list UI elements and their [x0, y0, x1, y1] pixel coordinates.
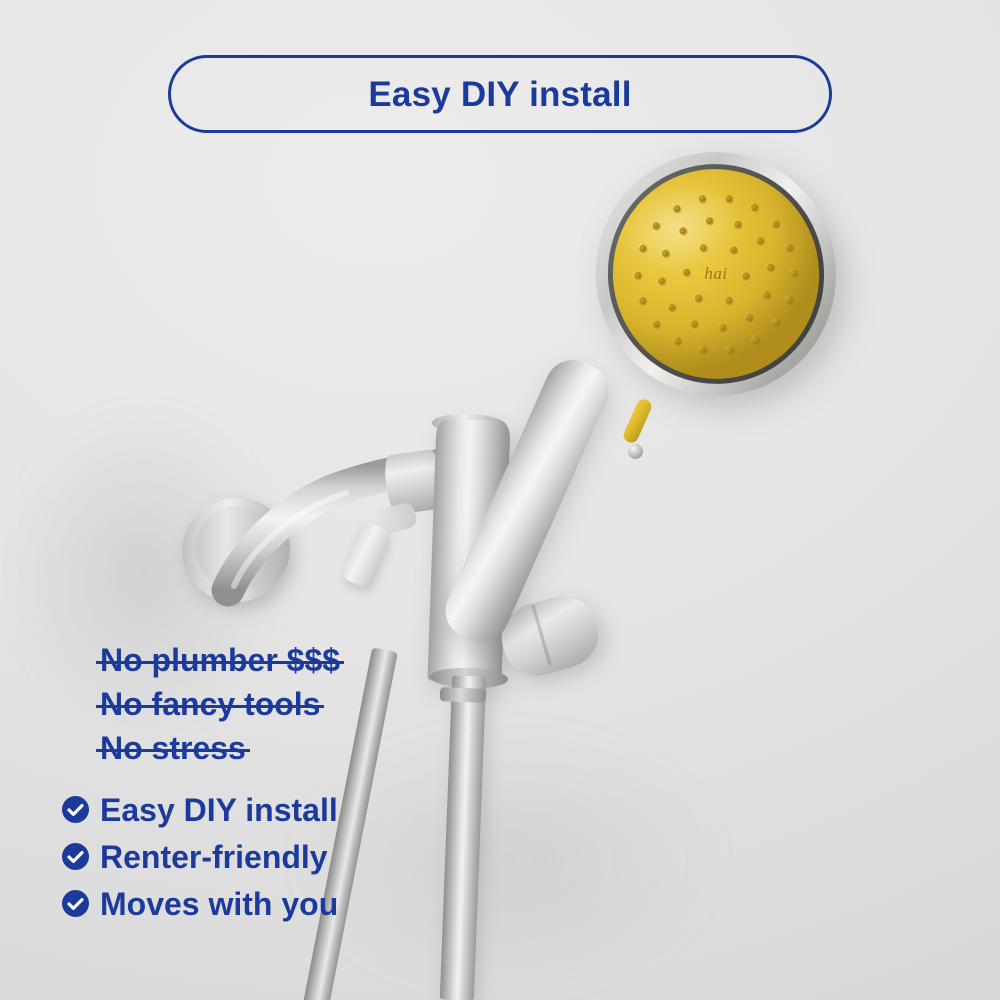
shower-nozzle	[762, 290, 770, 298]
benefit-label: Renter-friendly	[100, 841, 328, 873]
shower-nozzle	[785, 295, 793, 303]
shower-nozzle	[690, 320, 698, 328]
product-marketing-image: hai Easy DIY install No plumber $$$ No f…	[0, 0, 1000, 1000]
crossed-out-label: No stress	[100, 726, 246, 770]
list-item: No stress	[62, 726, 482, 770]
shower-nozzle	[698, 345, 706, 353]
shower-nozzle	[771, 220, 779, 228]
shower-head: hai	[572, 128, 861, 420]
shower-nozzle	[639, 297, 647, 305]
list-item: No fancy tools	[62, 682, 482, 726]
wand-slider-ball	[628, 444, 643, 459]
shower-nozzle	[668, 303, 676, 311]
shower-nozzle	[719, 323, 727, 331]
shower-head-gloss	[606, 172, 749, 283]
shower-nozzle	[652, 320, 660, 328]
shower-nozzle	[790, 269, 798, 277]
checked-benefits-list: Easy DIY install Renter-friendly Moves w…	[62, 786, 482, 927]
shower-nozzle	[766, 263, 774, 271]
shower-nozzle	[634, 271, 642, 279]
shower-nozzle	[756, 237, 764, 245]
check-circle-icon	[62, 796, 89, 823]
shower-nozzle	[772, 318, 780, 326]
check-circle-icon	[62, 890, 89, 917]
header-pill: Easy DIY install	[168, 55, 832, 133]
list-item: Moves with you	[62, 880, 482, 927]
crossed-out-label: No fancy tools	[100, 682, 320, 726]
shower-nozzle	[725, 296, 733, 304]
shower-nozzle	[729, 245, 737, 253]
benefit-label: Moves with you	[100, 888, 338, 920]
shower-nozzle	[742, 272, 750, 280]
crossed-out-label: No plumber $$$	[100, 638, 340, 682]
shower-nozzle	[695, 294, 703, 302]
shower-head-face: hai	[592, 149, 840, 400]
check-circle-icon	[62, 843, 89, 870]
shower-nozzle	[745, 313, 753, 321]
shower-nozzle	[785, 243, 793, 251]
shower-nozzle	[657, 277, 665, 285]
shower-nozzle	[673, 336, 681, 344]
shower-nozzle	[751, 336, 759, 344]
page-title: Easy DIY install	[368, 77, 631, 112]
shower-nozzle	[751, 203, 759, 211]
list-item: Renter-friendly	[62, 833, 482, 880]
benefit-label: Easy DIY install	[100, 794, 338, 826]
benefits-block: No plumber $$$ No fancy tools No stress …	[62, 638, 482, 927]
crossed-out-list: No plumber $$$ No fancy tools No stress	[62, 638, 482, 770]
brand-logo: hai	[704, 264, 727, 284]
shower-nozzle	[726, 345, 734, 353]
list-item: Easy DIY install	[62, 786, 482, 833]
list-item: No plumber $$$	[62, 638, 482, 682]
shower-nozzle	[682, 268, 690, 276]
